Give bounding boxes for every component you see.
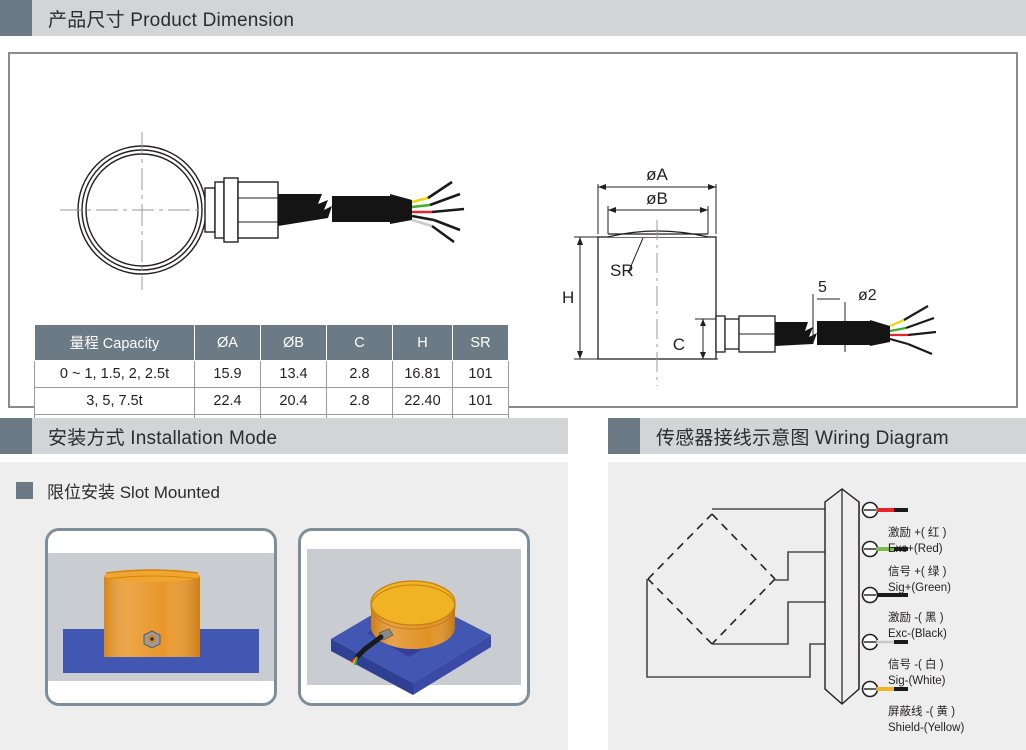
section-header-wiring-diagram: 传感器接线示意图 Wiring Diagram	[608, 418, 1026, 454]
installation-photo-isometric-view	[298, 528, 530, 706]
side-view-dimension-drawing: øA øB SR H	[540, 154, 940, 389]
cell-capacity: 0 ~ 1, 1.5, 2, 2.5t	[35, 361, 195, 388]
section-header-installation-mode: 安装方式 Installation Mode	[0, 418, 568, 454]
cell-phi-a: 15.9	[195, 361, 261, 388]
wire-label-cn: 信号 +( 绿 )	[888, 565, 951, 581]
col-header-h: H	[393, 325, 453, 361]
wire-label-sig-plus: 信号 +( 绿 ) Sig+(Green)	[888, 565, 951, 596]
datasheet-page: 产品尺寸 Product Dimension	[0, 0, 1026, 750]
col-header-c: C	[327, 325, 393, 361]
label-phi-a: øA	[646, 165, 668, 184]
wire-label-en: Exc-(Black)	[888, 627, 947, 643]
table-row: 0 ~ 1, 1.5, 2, 2.5t 15.9 13.4 2.8 16.81 …	[35, 361, 509, 388]
section-header-product-dimension: 产品尺寸 Product Dimension	[0, 0, 1026, 36]
cell-h: 22.40	[393, 388, 453, 415]
cell-h: 16.81	[393, 361, 453, 388]
subsection-label-slot-mounted: 限位安装 Slot Mounted	[47, 478, 220, 503]
cell-c: 2.8	[327, 361, 393, 388]
label-five: 5	[818, 279, 827, 296]
wire-label-sig-minus: 信号 -( 白 ) Sig-(White)	[888, 658, 946, 689]
wire-label-en: Shield-(Yellow)	[888, 721, 964, 737]
wire-label-en: Exc+(Red)	[888, 542, 946, 558]
label-sr: SR	[610, 261, 634, 280]
col-header-phi-b: ØB	[261, 325, 327, 361]
wiring-diagram-panel: 激励 +( 红 ) Exc+(Red) 信号 +( 绿 ) Sig+(Green…	[608, 462, 1026, 750]
accent-block-icon	[0, 0, 32, 36]
bullet-square-icon	[16, 482, 33, 499]
cell-capacity: 3, 5, 7.5t	[35, 388, 195, 415]
label-phi-b: øB	[646, 189, 668, 208]
cell-sr: 101	[453, 361, 509, 388]
wire-label-cn: 激励 +( 红 )	[888, 526, 946, 542]
cell-c: 2.8	[327, 388, 393, 415]
wire-label-shield: 屏蔽线 -( 黄 ) Shield-(Yellow)	[888, 705, 964, 736]
top-view-drawing	[60, 132, 480, 292]
cell-phi-b: 20.4	[261, 388, 327, 415]
cell-phi-a: 22.4	[195, 388, 261, 415]
wire-label-cn: 屏蔽线 -( 黄 )	[888, 705, 964, 721]
col-header-capacity: 量程 Capacity	[35, 325, 195, 361]
section-title-wiring-diagram: 传感器接线示意图 Wiring Diagram	[640, 423, 949, 450]
label-c: C	[673, 335, 685, 354]
front-view-render	[48, 531, 274, 703]
wire-label-cn: 激励 -( 黑 )	[888, 611, 947, 627]
accent-block-icon	[608, 418, 640, 454]
section-title-installation-mode: 安装方式 Installation Mode	[32, 423, 277, 450]
subsection-slot-mounted: 限位安装 Slot Mounted	[16, 478, 220, 503]
section-title-product-dimension: 产品尺寸 Product Dimension	[32, 5, 294, 32]
wire-label-en: Sig+(Green)	[888, 581, 951, 597]
cell-sr: 101	[453, 388, 509, 415]
table-row: 3, 5, 7.5t 22.4 20.4 2.8 22.40 101	[35, 388, 509, 415]
wire-label-en: Sig-(White)	[888, 674, 946, 690]
product-dimension-panel: øA øB SR H	[8, 52, 1018, 408]
label-h: H	[562, 288, 574, 307]
cell-phi-b: 13.4	[261, 361, 327, 388]
wire-label-exc-plus: 激励 +( 红 ) Exc+(Red)	[888, 526, 946, 557]
isometric-view-render	[301, 531, 527, 703]
terminal-exc-plus	[863, 503, 909, 518]
col-header-phi-a: ØA	[195, 325, 261, 361]
wire-label-cn: 信号 -( 白 )	[888, 658, 946, 674]
col-header-sr: SR	[453, 325, 509, 361]
accent-block-icon	[0, 418, 32, 454]
installation-photo-front-view	[45, 528, 277, 706]
wire-label-exc-minus: 激励 -( 黑 ) Exc-(Black)	[888, 611, 947, 642]
table-header-row: 量程 Capacity ØA ØB C H SR	[35, 325, 509, 361]
label-phi-2: ø2	[858, 287, 877, 304]
